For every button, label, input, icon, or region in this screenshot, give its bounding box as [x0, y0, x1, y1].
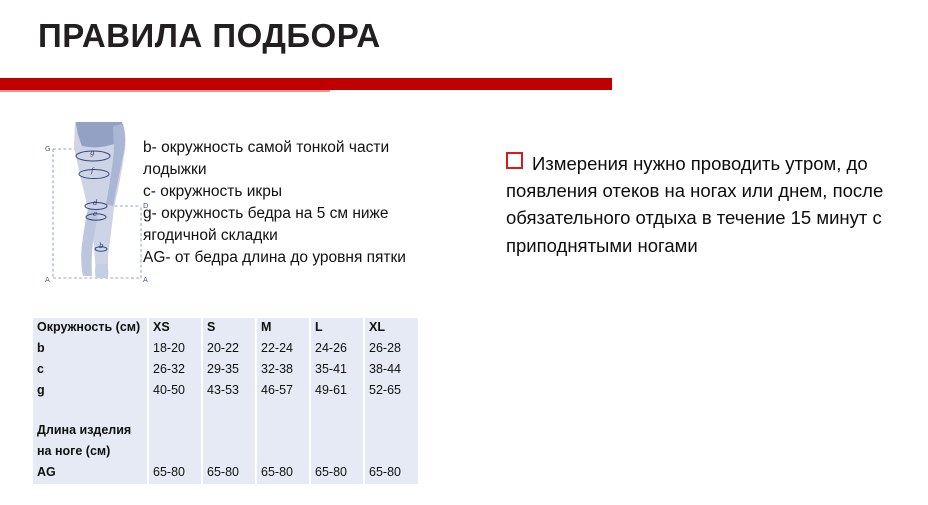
table-cell: 26-32 — [148, 360, 202, 381]
table-cell: 65-80 — [202, 463, 256, 484]
table-section-header-row: Длина изделия — [33, 421, 418, 442]
table-row: c 26-32 29-35 32-38 35-41 38-44 — [33, 360, 418, 381]
table-cell — [148, 442, 202, 463]
table-cell: 49-61 — [310, 381, 364, 402]
table-row-label: b — [33, 339, 148, 360]
table-cell — [310, 421, 364, 442]
table-cell: 43-53 — [202, 381, 256, 402]
table-cell: 52-65 — [364, 381, 418, 402]
legend-line-b-1: b- окружность самой тонкой части — [143, 137, 443, 159]
table-cell: 40-50 — [148, 381, 202, 402]
table-header-cell: M — [256, 318, 310, 339]
axis-label-a-right: A — [143, 276, 148, 284]
title-accent-bar-tail — [0, 90, 330, 92]
table-section-header-line2: на ноге (см) — [33, 442, 148, 463]
table-cell — [148, 402, 202, 421]
label-b: b — [99, 242, 104, 250]
legend-line-ag: AG- от бедра длина до уровня пятки — [143, 247, 443, 269]
table-section-header-row-2: на ноге (см) — [33, 442, 418, 463]
table-row-label: AG — [33, 463, 148, 484]
table-cell: 20-22 — [202, 339, 256, 360]
axis-label-a-left: A — [45, 276, 50, 284]
page-title: ПРАВИЛА ПОДБОРА — [38, 18, 381, 54]
table-cell — [202, 421, 256, 442]
table-cell — [310, 402, 364, 421]
table-cell — [256, 402, 310, 421]
table-cell: 22-24 — [256, 339, 310, 360]
table-cell — [256, 442, 310, 463]
table-header-row: Окружность (см) XS S M L XL — [33, 318, 418, 339]
table-row-label: c — [33, 360, 148, 381]
square-bullet-icon — [506, 152, 523, 169]
table-cell: 32-38 — [256, 360, 310, 381]
legend-line-g-1: g- окружность бедра на 5 см ниже — [143, 203, 443, 225]
table-cell — [148, 421, 202, 442]
table-cell: 65-80 — [364, 463, 418, 484]
table-row-label: g — [33, 381, 148, 402]
table-cell — [364, 421, 418, 442]
legend-line-b-2: лодыжки — [143, 159, 443, 181]
label-d: d — [93, 199, 98, 207]
table-cell — [202, 402, 256, 421]
leg-measurement-diagram: g f d c b G D A A — [44, 116, 152, 294]
table-header-cell: Окружность (см) — [33, 318, 148, 339]
table-header-cell: S — [202, 318, 256, 339]
table-header-cell: XL — [364, 318, 418, 339]
legend-line-c: c- окружность икры — [143, 181, 443, 203]
table-cell: 65-80 — [310, 463, 364, 484]
table-cell — [310, 442, 364, 463]
measurement-legend: b- окружность самой тонкой части лодыжки… — [143, 137, 443, 269]
table-cell: 65-80 — [256, 463, 310, 484]
leg-foot — [95, 264, 108, 278]
size-table: Окружность (см) XS S M L XL b 18-20 20-2… — [33, 318, 418, 484]
table-section-header-line1: Длина изделия — [33, 421, 148, 442]
table-row: AG 65-80 65-80 65-80 65-80 65-80 — [33, 463, 418, 484]
table-row: g 40-50 43-53 46-57 49-61 52-65 — [33, 381, 418, 402]
table-header-cell: XS — [148, 318, 202, 339]
table-cell: 38-44 — [364, 360, 418, 381]
table-cell — [364, 402, 418, 421]
label-c: c — [93, 210, 97, 218]
table-spacer-row — [33, 402, 418, 421]
table-cell: 35-41 — [310, 360, 364, 381]
table-cell: 18-20 — [148, 339, 202, 360]
measurement-note-text: Измерения нужно проводить утром, до появ… — [506, 153, 883, 256]
table-cell: 29-35 — [202, 360, 256, 381]
table-cell — [202, 442, 256, 463]
table-cell: 26-28 — [364, 339, 418, 360]
measurement-note: Измерения нужно проводить утром, до появ… — [506, 150, 906, 259]
table-cell: 65-80 — [148, 463, 202, 484]
table-row: b 18-20 20-22 22-24 24-26 26-28 — [33, 339, 418, 360]
table-cell: 24-26 — [310, 339, 364, 360]
axis-label-g: G — [45, 145, 50, 153]
table-cell: 46-57 — [256, 381, 310, 402]
table-cell — [364, 442, 418, 463]
table-cell — [256, 421, 310, 442]
label-g: g — [90, 149, 95, 157]
legend-line-g-2: ягодичной складки — [143, 225, 443, 247]
table-header-cell: L — [310, 318, 364, 339]
leg-diagram-svg: g f d c b G D A A — [44, 116, 152, 294]
table-cell — [33, 402, 148, 421]
title-accent-bar — [0, 78, 612, 90]
